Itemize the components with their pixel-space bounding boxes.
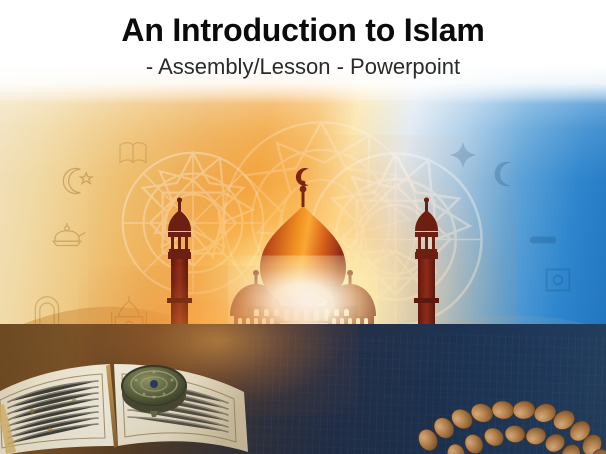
slide-canvas: An Introduction to Islam - Assembly/Less…	[0, 0, 606, 454]
page-subtitle: - Assembly/Lesson - Powerpoint	[0, 48, 606, 79]
page-title: An Introduction to Islam	[0, 0, 606, 48]
slide-header: An Introduction to Islam - Assembly/Less…	[0, 0, 606, 104]
crescent-moon-finial	[296, 168, 309, 186]
prayer-beads-tasbih-icon	[414, 380, 606, 454]
ornate-compass-box-icon	[118, 362, 190, 418]
